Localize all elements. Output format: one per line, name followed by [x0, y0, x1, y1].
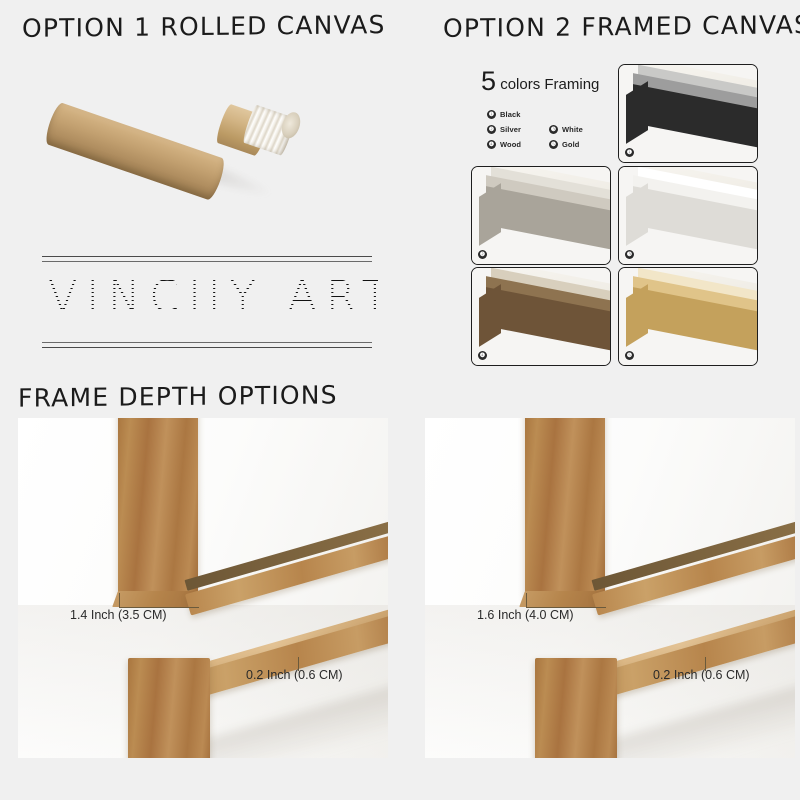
framing-color-legend: ❶ Black ❷ Silver ❸ White ❹ Wood ❺ Gold [487, 110, 612, 155]
legend-row: ❶ Black [487, 110, 612, 119]
tile-badge-5-icon: ❺ [625, 351, 634, 360]
frame-stile-lower [128, 658, 210, 758]
rolled-canvas-photo [45, 72, 295, 197]
tile-badge-2-icon: ❷ [478, 250, 487, 259]
logo-rule-top-inner [42, 261, 372, 262]
logo-rule-bottom-inner [42, 342, 372, 343]
logo-rule-top-outer [42, 256, 372, 257]
legend-label-black: Black [500, 110, 521, 119]
frame-depth-label: 1.4 Inch (3.5 CM) [70, 608, 167, 622]
frame-thickness-label: 0.2 Inch (0.6 CM) [246, 668, 343, 682]
framing-colors-title: 5 colors Framing [481, 66, 599, 97]
tile-badge-4-icon: ❹ [478, 351, 487, 360]
legend-item-white: ❸ White [549, 125, 611, 134]
legend-item-gold: ❺ Gold [549, 140, 611, 149]
legend-row: ❷ Silver ❸ White [487, 125, 612, 134]
frame-sample-tile-gold[interactable]: ❺ [618, 267, 758, 366]
frame-sample-tile-silver[interactable]: ❷ [471, 166, 611, 265]
frame-stile-lower [535, 658, 617, 758]
legend-label-gold: Gold [562, 140, 579, 149]
logo-rule-bottom-outer [42, 347, 372, 348]
brand-logo: VINCHY ART [42, 256, 372, 351]
badge-1-icon: ❶ [487, 110, 496, 119]
badge-4-icon: ❹ [487, 140, 496, 149]
frame-sample-tile-wood[interactable]: ❹ [471, 267, 611, 366]
legend-label-wood: Wood [500, 140, 521, 149]
depth-dimension-line [526, 593, 606, 608]
legend-label-silver: Silver [500, 125, 521, 134]
framing-title-rest: colors Framing [496, 76, 599, 93]
badge-2-icon: ❷ [487, 125, 496, 134]
frame-depth-label: 1.6 Inch (4.0 CM) [477, 608, 574, 622]
legend-label-white: White [562, 125, 583, 134]
brand-name: VINCHY ART [48, 272, 378, 322]
frame-corner-render [472, 167, 610, 264]
section-heading-option-1: OPTION 1 ROLLED CANVAS [22, 10, 386, 43]
framing-count: 5 [481, 66, 496, 96]
depth-dimension-line [119, 593, 199, 608]
frame-corner-render [619, 268, 757, 365]
frame-depth-photo-right: 1.6 Inch (4.0 CM) 0.2 Inch (0.6 CM) [425, 418, 795, 758]
frame-thickness-label: 0.2 Inch (0.6 CM) [653, 668, 750, 682]
frame-stile-upper [525, 418, 605, 598]
frame-corner-render [619, 167, 757, 264]
badge-3-icon: ❸ [549, 125, 558, 134]
frame-sample-tile-black[interactable]: ❶ [618, 64, 758, 163]
frame-sample-tile-white[interactable]: ❸ [618, 166, 758, 265]
tile-badge-3-icon: ❸ [625, 250, 634, 259]
frame-depth-photo-left: 1.4 Inch (3.5 CM) 0.2 Inch (0.6 CM) [18, 418, 388, 758]
section-heading-option-2: OPTION 2 FRAMED CANVAS [443, 10, 800, 43]
legend-row: ❹ Wood ❺ Gold [487, 140, 612, 149]
legend-item-black: ❶ Black [487, 110, 549, 119]
frame-corner-render [619, 65, 757, 162]
legend-item-wood: ❹ Wood [487, 140, 549, 149]
legend-item-silver: ❷ Silver [487, 125, 549, 134]
product-infographic: OPTION 1 ROLLED CANVAS VINCHY ART OPTION… [0, 0, 800, 800]
cardboard-tube-body [43, 101, 228, 201]
frame-stile-upper [118, 418, 198, 598]
tile-badge-1-icon: ❶ [625, 148, 634, 157]
frame-corner-render [472, 268, 610, 365]
section-heading-frame-depth: FRAME DEPTH OPTIONS [18, 380, 338, 412]
badge-5-icon: ❺ [549, 140, 558, 149]
